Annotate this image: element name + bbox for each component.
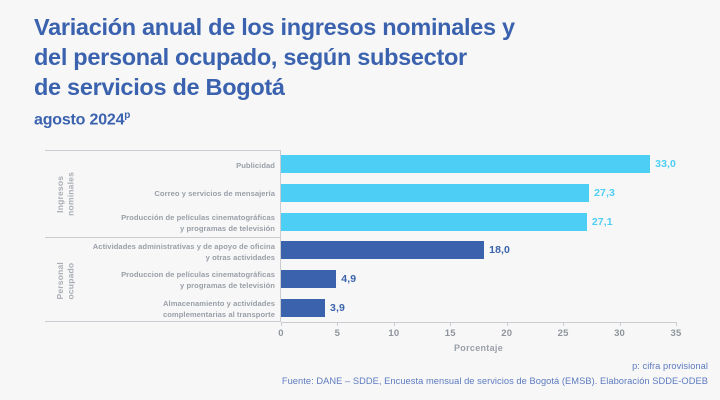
x-axis-tick-label: 35 — [671, 328, 682, 339]
category-label-row: Publicidad — [87, 151, 281, 180]
group-axis-label: Ingresos nominales — [45, 151, 87, 237]
bar-value-label: 3,9 — [330, 302, 345, 314]
provisional-note: p: cifra provisional — [282, 359, 708, 373]
x-axis-tick-label: 10 — [388, 328, 399, 339]
group-axis-label-text: Personal ocupado — [55, 262, 76, 300]
bar-value-label: 27,1 — [592, 216, 613, 228]
category-label-row: Producción de películas cinematográficas… — [87, 208, 281, 237]
x-axis-tick-mark — [450, 322, 451, 326]
bar-value-label: 18,0 — [489, 244, 510, 256]
x-axis-tick-label: 15 — [445, 328, 456, 339]
chart-subtitle-text: agosto 2024 — [34, 112, 124, 129]
group-axis-label: Personal ocupado — [45, 238, 87, 323]
x-axis-tick-mark — [394, 322, 395, 326]
category-label-text: Producción de películas cinematográficas… — [121, 212, 275, 234]
bar-row[interactable]: 27,3 — [281, 179, 676, 208]
bar-value-label: 4,9 — [341, 273, 356, 285]
x-axis-tick-label: 25 — [558, 328, 569, 339]
category-label-text: Correo y servicios de mensajería — [154, 188, 275, 199]
category-label-row: Actividades administrativas y de apoyo d… — [87, 238, 281, 266]
x-axis-tick-mark — [563, 322, 564, 326]
x-axis-tick-label: 20 — [501, 328, 512, 339]
bar-row[interactable]: 33,0 — [281, 150, 676, 179]
category-group: Personal ocupadoActividades administrati… — [45, 237, 281, 323]
x-axis-tick-mark — [676, 322, 677, 326]
x-axis-line — [281, 322, 676, 323]
category-label-text: Publicidad — [236, 160, 275, 171]
bar[interactable] — [281, 155, 650, 173]
bar[interactable] — [281, 213, 587, 231]
bar-row[interactable]: 3,9 — [281, 293, 676, 322]
chart-footer: p: cifra provisional Fuente: DANE – SDDE… — [282, 359, 708, 388]
bar-row[interactable]: 4,9 — [281, 265, 676, 294]
bar-row[interactable]: 27,1 — [281, 207, 676, 236]
category-label-row: Produccion de películas cinematográficas… — [87, 266, 281, 294]
category-label-row: Almacenamiento y actividades complementa… — [87, 295, 281, 323]
category-label-text: Almacenamiento y actividades complementa… — [163, 298, 275, 320]
category-label-text: Actividades administrativas y de apoyo d… — [93, 241, 275, 263]
bar[interactable] — [281, 184, 589, 202]
category-axis-frame: Ingresos nominalesPublicidadCorreo y ser… — [45, 150, 281, 322]
category-group: Ingresos nominalesPublicidadCorreo y ser… — [45, 151, 281, 237]
category-label-list: Actividades administrativas y de apoyo d… — [87, 238, 281, 323]
bar-value-label: 27,3 — [594, 187, 615, 199]
x-axis-tick-label: 5 — [335, 328, 340, 339]
x-axis-title: Porcentaje — [281, 343, 676, 353]
page-title: Variación anual de los ingresos nominale… — [34, 12, 634, 102]
chart-subtitle: agosto 2024p — [34, 110, 634, 129]
x-axis-tick-label: 30 — [614, 328, 625, 339]
x-axis-tick-mark — [620, 322, 621, 326]
category-label-row: Correo y servicios de mensajería — [87, 180, 281, 209]
bar-value-label: 33,0 — [655, 158, 676, 170]
source-note: Fuente: DANE – SDDE, Encuesta mensual de… — [282, 374, 708, 388]
category-label-text: Produccion de películas cinematográficas… — [121, 269, 275, 291]
x-axis-tick-mark — [281, 322, 282, 326]
x-axis-tick-label: 0 — [278, 328, 283, 339]
group-axis-label-text: Ingresos nominales — [55, 172, 76, 216]
x-axis-tick-mark — [337, 322, 338, 326]
bar-row[interactable]: 18,0 — [281, 236, 676, 265]
bar[interactable] — [281, 270, 336, 288]
bars-area: 33,027,327,118,04,93,9 — [281, 150, 676, 322]
chart-subtitle-superscript: p — [124, 110, 130, 121]
bar[interactable] — [281, 241, 484, 259]
category-label-list: PublicidadCorreo y servicios de mensajer… — [87, 151, 281, 237]
chart-header: Variación anual de los ingresos nominale… — [34, 12, 634, 130]
bar-chart: Ingresos nominalesPublicidadCorreo y ser… — [0, 144, 720, 356]
x-axis-tick-mark — [507, 322, 508, 326]
bar[interactable] — [281, 299, 325, 317]
